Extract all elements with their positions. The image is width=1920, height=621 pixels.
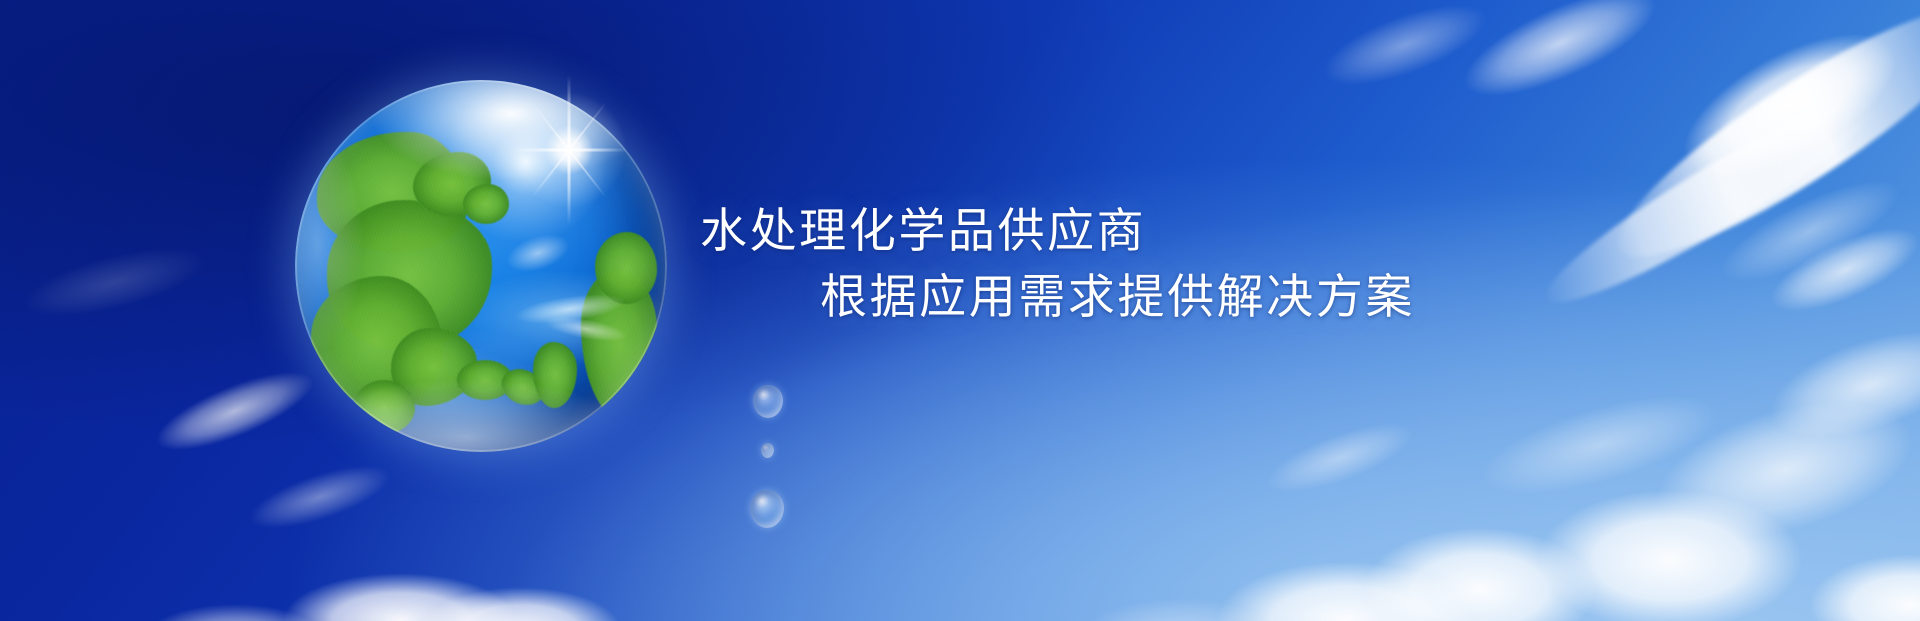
headline-line-2: 根据应用需求提供解决方案: [820, 258, 1415, 327]
hero-banner: 水处理化学品供应商 根据应用需求提供解决方案: [0, 0, 1920, 621]
headline-block: 水处理化学品供应商 根据应用需求提供解决方案: [0, 0, 1920, 621]
headline-line-1: 水处理化学品供应商: [700, 192, 1146, 261]
